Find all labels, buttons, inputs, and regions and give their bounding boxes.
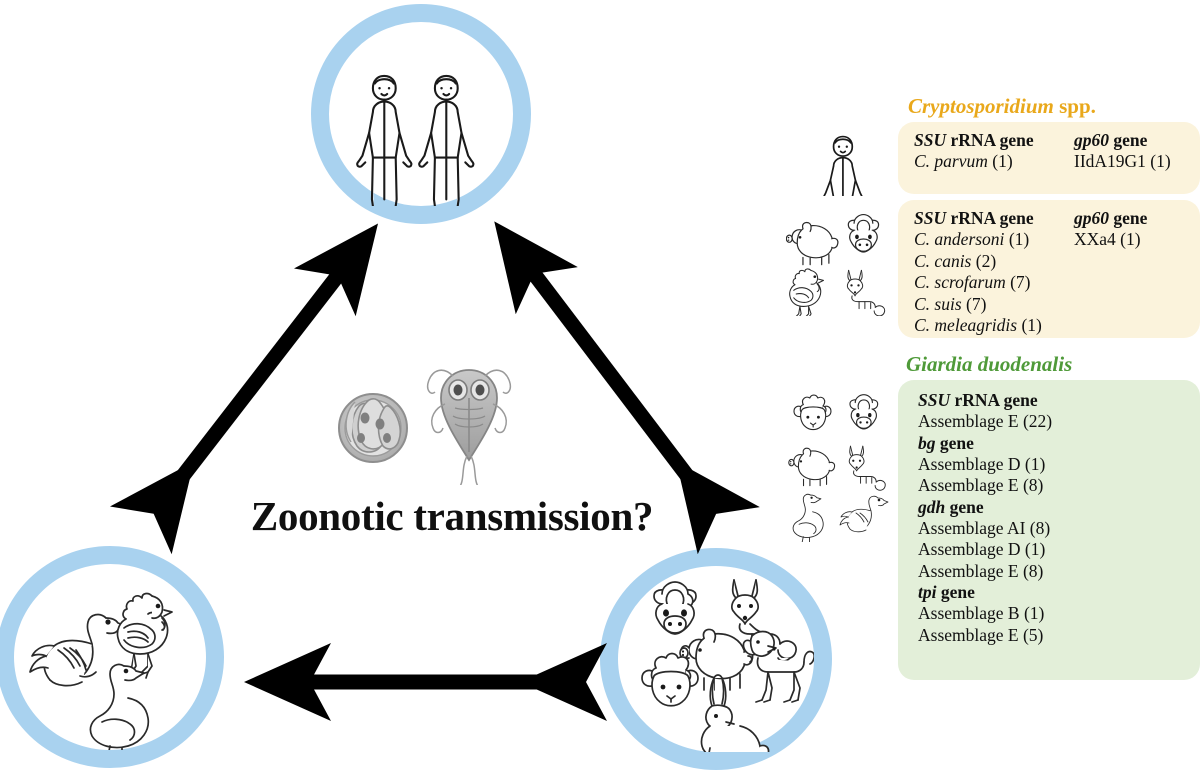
humans-icon-group	[329, 22, 513, 206]
gene-head-tpi: tpi gene	[918, 582, 1178, 603]
gene-head-ssu: SSU rRNA gene	[918, 390, 1178, 411]
diagram-canvas: Zoonotic transmission? Cryptosporidium s…	[0, 0, 1200, 764]
gene-item: Assemblage E (8)	[918, 561, 1178, 583]
human-figure-icon	[818, 132, 870, 196]
gene-head-gp60-italic: gp60	[1074, 130, 1109, 150]
gene-item: Assemblage E (22)	[918, 411, 1178, 433]
species-count: (7)	[1006, 272, 1031, 292]
host-icons-crypto-human	[818, 132, 870, 196]
giardia-title-species: Giardia duodenalis	[906, 352, 1072, 376]
gene-head-gdh-plain: gene	[945, 497, 983, 517]
species-name: C. parvum	[914, 151, 988, 171]
host-icons-giardia	[788, 392, 896, 542]
species-name: C. meleagridis	[914, 315, 1017, 335]
legend-box-crypto-animal: SSU rRNA gene C. andersoni (1) C. canis …	[898, 200, 1200, 338]
gene-head-ssu-plain: rRNA gene	[946, 130, 1033, 150]
gene-head-tpi-italic: tpi	[918, 582, 936, 602]
gene-item: C. andersoni (1)	[914, 229, 1042, 251]
gene-head-gp60: gp60 gene	[1074, 208, 1147, 229]
gene-head-gp60-plain: gene	[1109, 208, 1147, 228]
crypto-animal-ssu-column: SSU rRNA gene C. andersoni (1) C. canis …	[914, 208, 1042, 337]
gene-head-ssu: SSU rRNA gene	[914, 208, 1042, 229]
gene-item: IIdA19G1 (1)	[1074, 151, 1171, 173]
gene-head-ssu-italic: SSU	[914, 208, 946, 228]
species-name: C. canis	[914, 251, 971, 271]
crypto-animal-gp60-column: gp60 gene XXa4 (1)	[1074, 208, 1147, 251]
gene-item: C. parvum (1)	[914, 151, 1034, 173]
birds-icon-group	[14, 564, 206, 750]
legend-title-giardia: Giardia duodenalis	[906, 352, 1072, 377]
host-icons-crypto-animal	[786, 212, 894, 316]
gene-head-gdh: gdh gene	[918, 497, 1178, 518]
species-count: (2)	[971, 251, 996, 271]
subtype-name: IIdA19G1 (1)	[1074, 151, 1171, 171]
gene-item: Assemblage AI (8)	[918, 518, 1178, 540]
crypto-title-suffix: spp.	[1054, 94, 1096, 118]
species-name: C. suis	[914, 294, 962, 314]
species-name: C. andersoni	[914, 229, 1004, 249]
crypto-human-ssu-column: SSU rRNA gene C. parvum (1)	[914, 130, 1034, 173]
species-count: (1)	[988, 151, 1013, 171]
gene-item: Assemblage E (8)	[918, 475, 1178, 497]
subtype-name: XXa4 (1)	[1074, 229, 1141, 249]
legend-box-crypto-human: SSU rRNA gene C. parvum (1) gp60 gene II…	[898, 122, 1200, 194]
gene-item: Assemblage D (1)	[918, 539, 1178, 561]
crypto-title-genus: Cryptosporidium	[908, 94, 1054, 118]
node-circle-humans	[311, 4, 531, 224]
arrow-humans-animals	[492, 228, 722, 510]
legend-title-cryptosporidium: Cryptosporidium spp.	[908, 94, 1096, 119]
gene-head-ssu-italic: SSU	[914, 130, 946, 150]
two-humans-icon	[329, 22, 513, 206]
species-count: (1)	[1017, 315, 1042, 335]
cryptosporidium-oocyst-icon	[339, 394, 407, 462]
giardia-gene-list: SSU rRNA gene Assemblage E (22) bg gene …	[918, 390, 1178, 646]
gene-head-gp60-plain: gene	[1109, 130, 1147, 150]
crypto-human-gp60-column: gp60 gene IIdA19G1 (1)	[1074, 130, 1171, 173]
species-count: (7)	[962, 294, 987, 314]
gene-head-gp60: gp60 gene	[1074, 130, 1171, 151]
gene-head-ssu-italic: SSU	[918, 390, 950, 410]
legend-panel: Cryptosporidium spp.	[780, 94, 1200, 694]
gene-item: Assemblage D (1)	[918, 454, 1178, 476]
gene-item: Assemblage B (1)	[918, 603, 1178, 625]
gene-head-tpi-plain: gene	[936, 582, 974, 602]
gene-head-bg-plain: gene	[936, 433, 974, 453]
gene-head-ssu-plain: rRNA gene	[946, 208, 1033, 228]
gene-head-gp60-italic: gp60	[1074, 208, 1109, 228]
gene-head-bg: bg gene	[918, 433, 1178, 454]
species-count: (1)	[1004, 229, 1029, 249]
gene-item: Assemblage E (5)	[918, 625, 1178, 647]
gene-head-ssu-plain: rRNA gene	[950, 390, 1037, 410]
gene-item: C. suis (7)	[914, 294, 1042, 316]
gene-item: XXa4 (1)	[1074, 229, 1147, 251]
gene-head-bg-italic: bg	[918, 433, 936, 453]
gene-head-gdh-italic: gdh	[918, 497, 945, 517]
arrow-birds-animals	[258, 662, 578, 702]
giardia-trophozoite-icon	[428, 370, 511, 485]
gene-item: C. scrofarum (7)	[914, 272, 1042, 294]
page-title: Zoonotic transmission?	[232, 492, 672, 540]
gene-head-ssu: SSU rRNA gene	[914, 130, 1034, 151]
sheep-cow-pig-fox-goose-swan-icons	[788, 392, 896, 542]
birds-icon	[14, 564, 206, 750]
gene-item: C. canis (2)	[914, 251, 1042, 273]
node-circle-birds	[0, 546, 224, 768]
pig-cow-chicken-fox-icons	[786, 212, 894, 316]
gene-item: C. meleagridis (1)	[914, 315, 1042, 337]
parasite-illustrations	[325, 360, 525, 485]
species-name: C. scrofarum	[914, 272, 1006, 292]
legend-box-giardia: SSU rRNA gene Assemblage E (22) bg gene …	[898, 380, 1200, 680]
